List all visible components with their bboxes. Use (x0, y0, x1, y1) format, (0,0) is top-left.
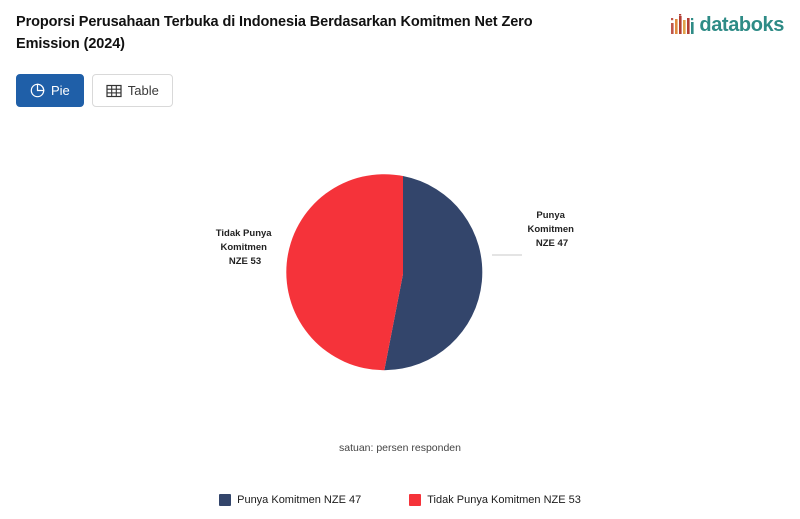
logo-wordmark: databoks (699, 15, 784, 35)
page-title: Proporsi Perusahaan Terbuka di Indonesia… (16, 12, 576, 56)
pie-label-punya: Punya Komitmen NZE 47 (527, 210, 576, 249)
legend-item-tidak-punya-komitmen[interactable]: Tidak Punya Komitmen NZE 53 (409, 494, 581, 506)
bar-chart-mark-icon (670, 14, 696, 36)
pie-chart: Tidak Punya Komitmen NZE 53 Punya Komitm… (0, 120, 800, 420)
legend-label-punya-komitmen: Punya Komitmen NZE 47 (237, 494, 361, 506)
table-view-button[interactable]: Table (92, 74, 173, 107)
legend-swatch-navy (219, 494, 231, 506)
legend-label-tidak-punya-komitmen: Tidak Punya Komitmen NZE 53 (427, 494, 581, 506)
pie-view-label: Pie (51, 83, 70, 98)
databoks-logo: databoks (670, 12, 784, 36)
pie-chart-container: Tidak Punya Komitmen NZE 53 Punya Komitm… (0, 120, 800, 470)
table-view-label: Table (128, 83, 159, 98)
unit-note: satuan: persen responden (0, 442, 800, 454)
pie-view-button[interactable]: Pie (16, 74, 84, 107)
pie-chart-icon (30, 83, 45, 98)
chart-header: Proporsi Perusahaan Terbuka di Indonesia… (0, 0, 800, 62)
chart-legend: Punya Komitmen NZE 47 Tidak Punya Komitm… (0, 494, 800, 506)
grid-table-icon (106, 83, 122, 99)
legend-item-punya-komitmen[interactable]: Punya Komitmen NZE 47 (219, 494, 361, 506)
pie-label-tidak-punya: Tidak Punya Komitmen NZE 53 (216, 228, 274, 267)
pie-slice-tidak-punya-komitmen[interactable] (286, 174, 403, 370)
view-toggle-toolbar: Pie Table (16, 74, 173, 107)
legend-swatch-red (409, 494, 421, 506)
